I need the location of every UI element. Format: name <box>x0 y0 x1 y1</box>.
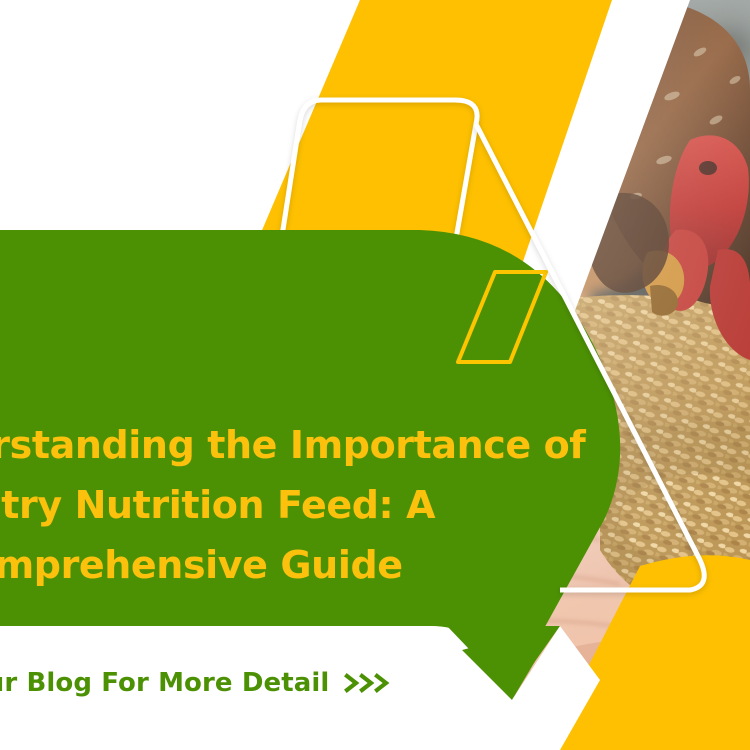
triple-chevron-right-icon <box>343 671 395 695</box>
cta-link[interactable]: Visit Our Blog For More Detail <box>0 666 402 700</box>
banner-canvas: Understanding the Importance of Poultry … <box>0 0 750 750</box>
cta-label: Visit Our Blog For More Detail <box>0 666 329 700</box>
green-panel <box>0 230 620 690</box>
banner-artwork <box>0 0 750 750</box>
